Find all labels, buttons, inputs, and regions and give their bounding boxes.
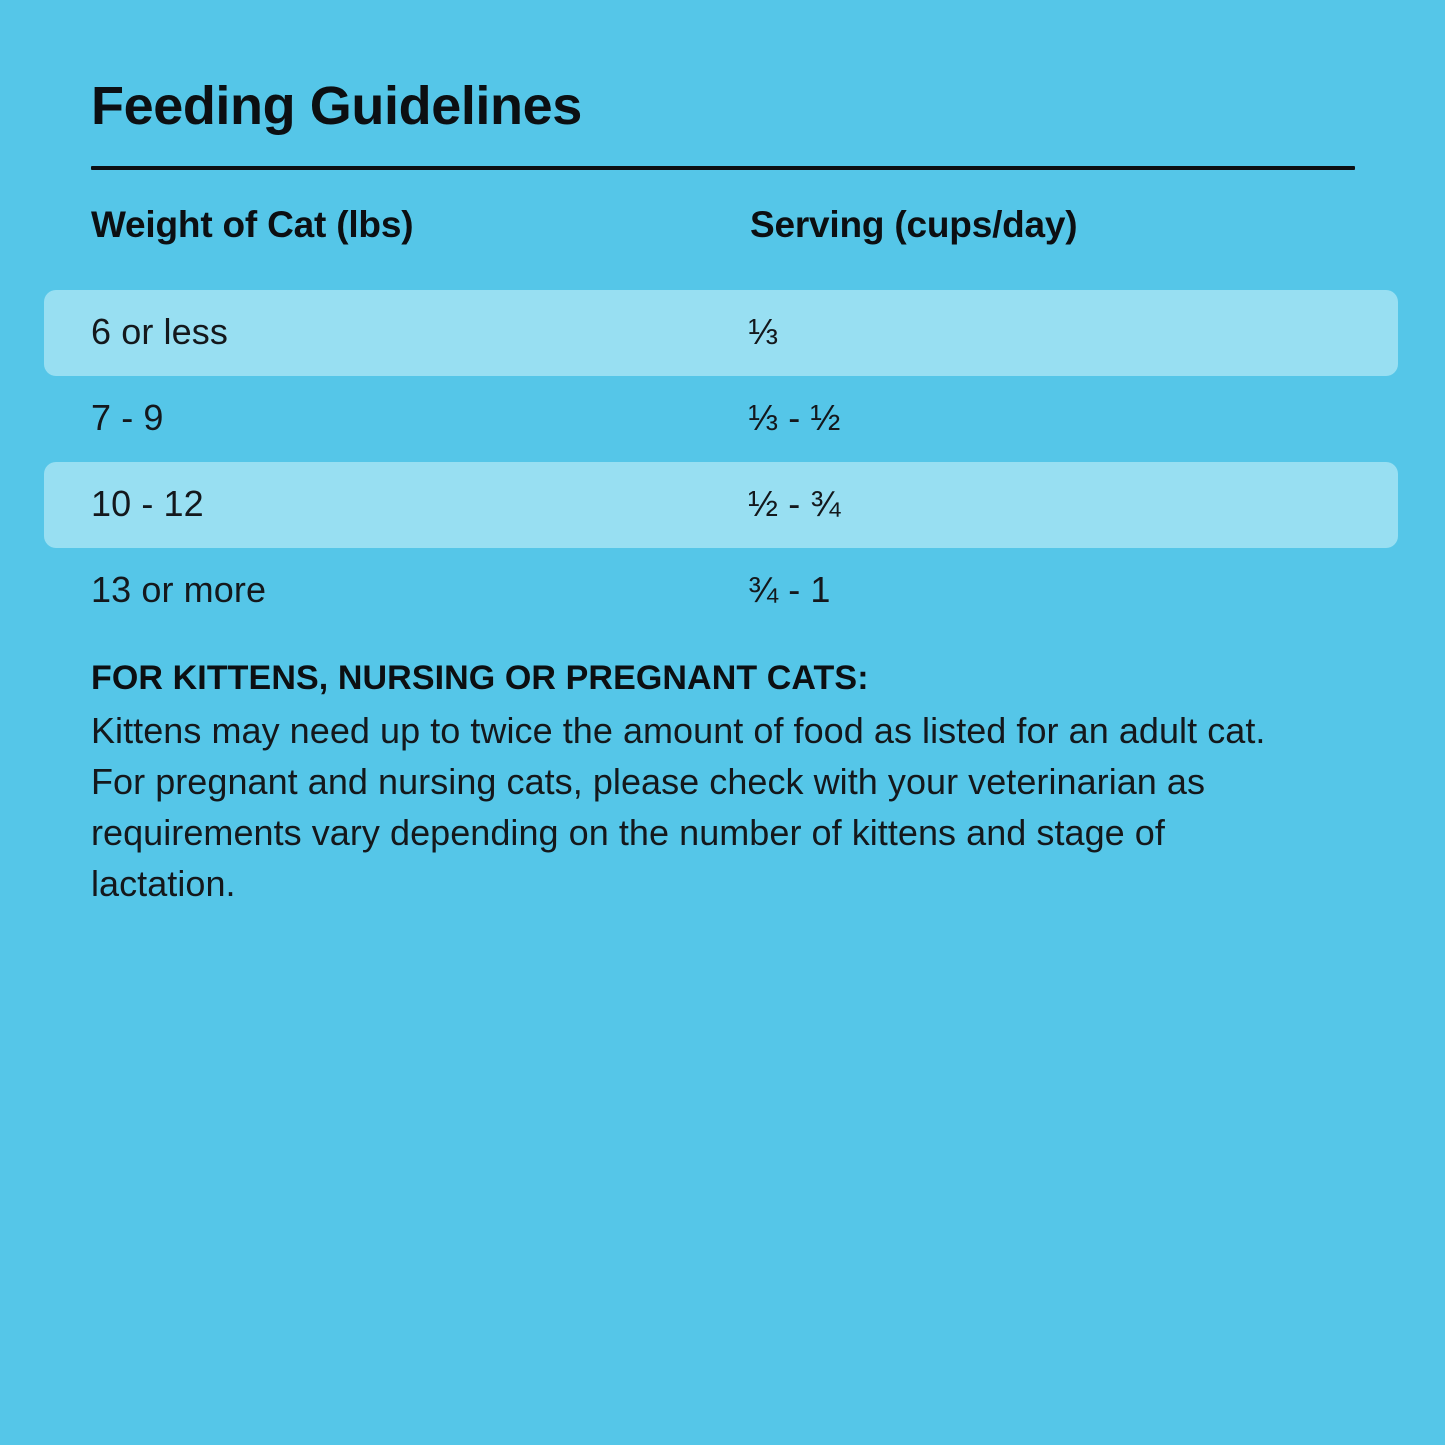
table-body: 6 or less ⅓ 7 - 9 ⅓ - ½ 10 - 12 ½ - ¾ 13…	[0, 290, 1445, 634]
title-block: Feeding Guidelines	[91, 78, 1355, 135]
row-highlight	[44, 290, 1398, 376]
feeding-table: Weight of Cat (lbs) Serving (cups/day) 6…	[0, 206, 1445, 634]
cell-weight: 6 or less	[91, 312, 228, 352]
cell-serving: ¾ - 1	[748, 570, 831, 610]
feeding-guidelines-panel: Feeding Guidelines Weight of Cat (lbs) S…	[0, 0, 1445, 1445]
table-row: 13 or more ¾ - 1	[0, 548, 1445, 634]
table-header-row: Weight of Cat (lbs) Serving (cups/day)	[0, 206, 1445, 290]
cell-serving: ½ - ¾	[748, 484, 841, 524]
row-highlight	[44, 376, 1398, 462]
table-row: 7 - 9 ⅓ - ½	[0, 376, 1445, 462]
column-header-serving: Serving (cups/day)	[750, 206, 1077, 243]
cell-serving: ⅓ - ½	[748, 398, 841, 438]
cell-weight: 10 - 12	[91, 484, 204, 524]
table-row: 10 - 12 ½ - ¾	[0, 462, 1445, 548]
table-row: 6 or less ⅓	[0, 290, 1445, 376]
page-title: Feeding Guidelines	[91, 78, 1355, 135]
kitten-note-body: Kittens may need up to twice the amount …	[91, 705, 1276, 909]
kitten-note-section: FOR KITTENS, NURSING OR PREGNANT CATS: K…	[91, 659, 1276, 910]
title-divider	[91, 166, 1355, 170]
kitten-note-heading: FOR KITTENS, NURSING OR PREGNANT CATS:	[91, 659, 1276, 697]
cell-serving: ⅓	[748, 312, 778, 352]
cell-weight: 13 or more	[91, 570, 266, 610]
row-highlight	[44, 462, 1398, 548]
cell-weight: 7 - 9	[91, 398, 164, 438]
column-header-weight: Weight of Cat (lbs)	[91, 206, 413, 243]
